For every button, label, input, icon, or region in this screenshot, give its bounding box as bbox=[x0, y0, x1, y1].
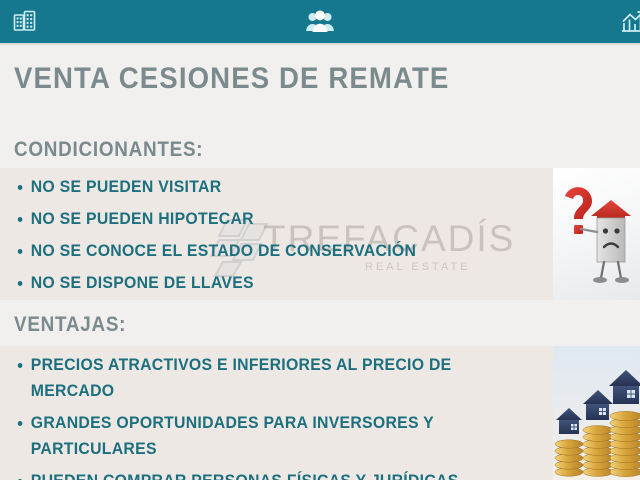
list-item: NO SE PUEDEN VISITAR bbox=[14, 174, 507, 200]
people-group-icon[interactable] bbox=[305, 8, 335, 36]
topbar-shadow bbox=[0, 43, 640, 46]
list-item: NO SE PUEDEN HIPOTECAR bbox=[14, 206, 507, 232]
list-item: PRECIOS ATRACTIVOS E INFERIORES AL PRECI… bbox=[14, 352, 507, 404]
top-navigation-bar bbox=[0, 0, 640, 43]
list-item: GRANDES OPORTUNIDADES PARA INVERSORES Y … bbox=[14, 410, 507, 462]
list-item: NO SE CONOCE EL ESTADO DE CONSERVACIÓN bbox=[14, 238, 507, 264]
buildings-icon[interactable] bbox=[10, 8, 40, 36]
ventajas-list: PRECIOS ATRACTIVOS E INFERIORES AL PRECI… bbox=[14, 352, 544, 480]
section-heading-condicionantes: CONDICIONANTES: bbox=[14, 138, 203, 162]
section-heading-ventajas: VENTAJAS: bbox=[14, 313, 126, 337]
houses-on-coin-stacks-image bbox=[553, 346, 640, 480]
condicionantes-list: NO SE PUEDEN VISITAR NO SE PUEDEN HIPOTE… bbox=[14, 174, 544, 302]
sad-house-question-mark-image bbox=[553, 168, 640, 300]
growth-chart-icon[interactable] bbox=[618, 8, 640, 36]
list-item: PUEDEN COMPRAR PERSONAS FÍSICAS Y JURÍDI… bbox=[14, 468, 507, 480]
slide-root: VENTA CESIONES DE REMATE TREFACADÍS REAL… bbox=[0, 0, 640, 480]
list-item: NO SE DISPONE DE LLAVES bbox=[14, 270, 507, 296]
page-title: VENTA CESIONES DE REMATE bbox=[14, 62, 449, 96]
